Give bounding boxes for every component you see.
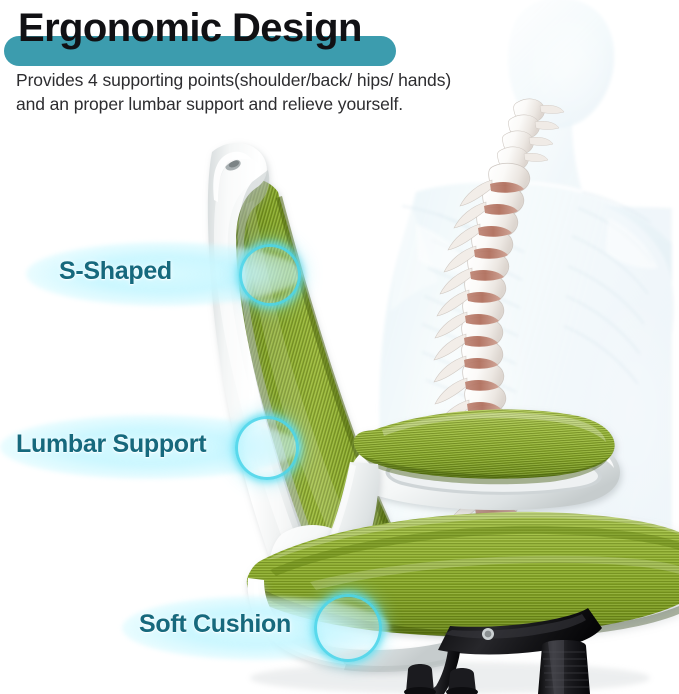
- page-title: Ergonomic Design: [18, 6, 362, 50]
- callout-soft-cushion: Soft Cushion: [118, 582, 408, 674]
- callout-s-shaped: S-Shaped: [18, 228, 318, 320]
- callout-label: Lumbar Support: [16, 430, 206, 459]
- header: Ergonomic Design Provides 4 supporting p…: [0, 0, 679, 130]
- callout-lumbar-support: Lumbar Support: [0, 402, 318, 494]
- callout-label: Soft Cushion: [139, 610, 291, 639]
- callout-label: S-Shaped: [59, 257, 172, 286]
- subtitle: Provides 4 supporting points(shoulder/ba…: [16, 68, 616, 116]
- subtitle-line-2: and an proper lumbar support and relieve…: [16, 92, 616, 116]
- subtitle-line-1: Provides 4 supporting points(shoulder/ba…: [16, 68, 616, 92]
- highlight-circle-icon: [239, 244, 301, 306]
- product-infographic: Ergonomic Design Provides 4 supporting p…: [0, 0, 679, 694]
- highlight-circle-icon: [314, 594, 382, 662]
- highlight-circle-icon: [235, 416, 299, 480]
